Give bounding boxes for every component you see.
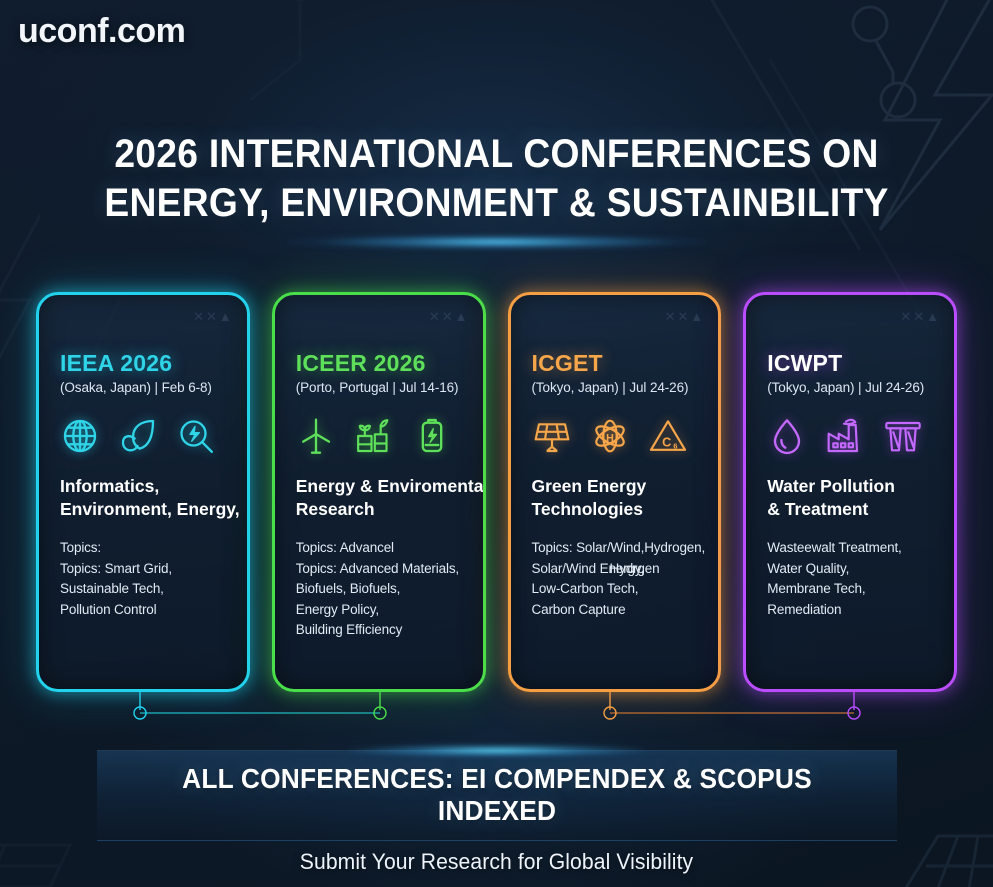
card-topics: Topics: Advancel Topics: Advanced Materi…: [296, 538, 466, 641]
headline-block: 2026 INTERNATIONAL CONFERENCES ON ENERGY…: [0, 130, 993, 228]
card-location-date: (Osaka, Japan) | Feb 6-8): [60, 380, 230, 395]
indexing-banner: ALL CONFERENCES: EI COMPENDEX & SCOPUS I…: [97, 750, 897, 841]
topic-line: Building Efficiency: [296, 620, 466, 641]
card-corner-glyphs: ✕✕▲: [900, 309, 941, 325]
card-heading-line2: Research: [296, 499, 375, 519]
svg-text:H: H: [606, 433, 614, 445]
indexing-text: ALL CONFERENCES: EI COMPENDEX & SCOPUS I…: [121, 763, 873, 827]
topic-line: Sustainable Tech,: [60, 579, 230, 600]
topic-line: Wasteewalt Treatment,: [767, 538, 937, 559]
card-heading-line1: Informatics,: [60, 476, 159, 496]
title-glow: [287, 234, 707, 250]
footer-block: ALL CONFERENCES: EI COMPENDEX & SCOPUS I…: [0, 750, 993, 875]
site-logo[interactable]: uconf.com: [18, 12, 185, 51]
card-icon-row: [60, 413, 230, 459]
card-title: ICGET: [532, 351, 702, 375]
magnifier-bolt-icon: [176, 416, 216, 456]
water-filter-icon: [883, 416, 923, 456]
card-location-date: (Tokyo, Japan) | Jul 24-26): [767, 380, 937, 395]
topic-line: Topics: Advancel: [296, 538, 466, 559]
conference-card-ieea[interactable]: ✕✕▲ IEEA 2026 (Osaka, Japan) | Feb 6-8): [36, 292, 250, 692]
topic-line: Carbon Capture: [532, 600, 702, 621]
topic-line: Energy Policy,: [296, 600, 466, 621]
page-title-line2: ENERGY, ENVIRONMENT & SUSTAINBILITY: [35, 179, 958, 228]
card-heading-line1: Water Pollution: [767, 476, 895, 496]
topic-line: Remediation: [767, 600, 937, 621]
card-heading: Water Pollution & Treatment: [767, 475, 937, 521]
carbon-triangle-icon: C 6: [648, 416, 688, 456]
card-connector-rail: [36, 690, 957, 730]
card-heading: Informatics, Environment, Energy,: [60, 475, 230, 521]
water-drop-icon: [767, 416, 807, 456]
topic-line: Topics: Advanced Materials,: [296, 559, 466, 580]
topic-line: Water Quality,: [767, 559, 937, 580]
conference-card-icget[interactable]: ✕✕▲ ICGET (Tokyo, Japan) | Jul 24-26) H: [508, 292, 722, 692]
svg-text:6: 6: [673, 441, 677, 450]
card-heading-line2: Environment, Energy,: [60, 499, 240, 519]
topic-line: Low-Carbon Tech,: [532, 579, 702, 600]
card-title: ICWPT: [767, 351, 937, 375]
card-topics: Topics: Solar/Wind,Hydrogen, Solar/Wind …: [532, 538, 702, 620]
card-title: IEEA 2026: [60, 351, 230, 375]
topic-line: Membrane Tech,: [767, 579, 937, 600]
card-icon-row: H C 6: [532, 413, 702, 459]
page-title: 2026 INTERNATIONAL CONFERENCES ON ENERGY…: [35, 130, 958, 228]
topic-line: Topics: Smart Grid,: [60, 559, 230, 580]
topic-line: Topics: Solar/Wind,Hydrogen,: [532, 538, 702, 559]
seedling-pots-icon: [354, 416, 394, 456]
atom-hydrogen-icon: H: [590, 416, 630, 456]
topic-line: Biofuels, Biofuels,: [296, 579, 466, 600]
card-location-date: (Porto, Portugal | Jul 14-16): [296, 380, 466, 395]
card-heading-line2: Technologies: [532, 499, 644, 519]
page-title-line1: 2026 INTERNATIONAL CONFERENCES ON: [114, 132, 878, 176]
conference-card-icwpt[interactable]: ✕✕▲ ICWPT (Tokyo, Japan) | Jul 24-26): [743, 292, 957, 692]
card-corner-glyphs: ✕✕▲: [193, 309, 234, 325]
svg-text:C: C: [662, 435, 671, 449]
card-location-date: (Tokyo, Japan) | Jul 24-26): [532, 380, 702, 395]
call-to-action-text: Submit Your Research for Global Visibili…: [20, 849, 973, 875]
globe-icon: [60, 416, 100, 456]
leaf-icon: [118, 416, 158, 456]
card-corner-glyphs: ✕✕▲: [665, 309, 706, 325]
poster-root: uconf.com 2026 INTERNATIONAL CONFERENCES…: [0, 0, 993, 887]
card-heading-line2: & Treatment: [767, 499, 868, 519]
card-icon-row: [296, 413, 466, 459]
factory-icon: [825, 416, 865, 456]
solar-panel-icon: [532, 416, 572, 456]
card-heading: Green Energy Technologies: [532, 475, 702, 521]
wind-turbine-icon: [296, 416, 336, 456]
topic-line: Pollution Control: [60, 600, 230, 621]
card-icon-row: [767, 413, 937, 459]
card-title: ICEER 2026: [296, 351, 466, 375]
card-topics: Topics: Topics: Smart Grid, Sustainable …: [60, 538, 230, 620]
card-heading-line1: Green Energy: [532, 476, 647, 496]
battery-bolt-icon: [412, 416, 452, 456]
card-corner-glyphs: ✕✕▲: [429, 309, 470, 325]
card-heading-line1: Energy & Enviromental: [296, 476, 486, 496]
card-topics: Wasteewalt Treatment, Water Quality, Mem…: [767, 538, 937, 620]
topic-line: Solar/Wind Energy,: [532, 559, 702, 580]
card-heading: Energy & Enviromental Research: [296, 475, 466, 521]
topic-line: Topics:: [60, 538, 230, 559]
conference-card-iceer[interactable]: ✕✕▲ ICEER 2026 (Porto, Portugal | Jul 14…: [272, 292, 486, 692]
conference-cards: ✕✕▲ IEEA 2026 (Osaka, Japan) | Feb 6-8): [36, 292, 957, 692]
